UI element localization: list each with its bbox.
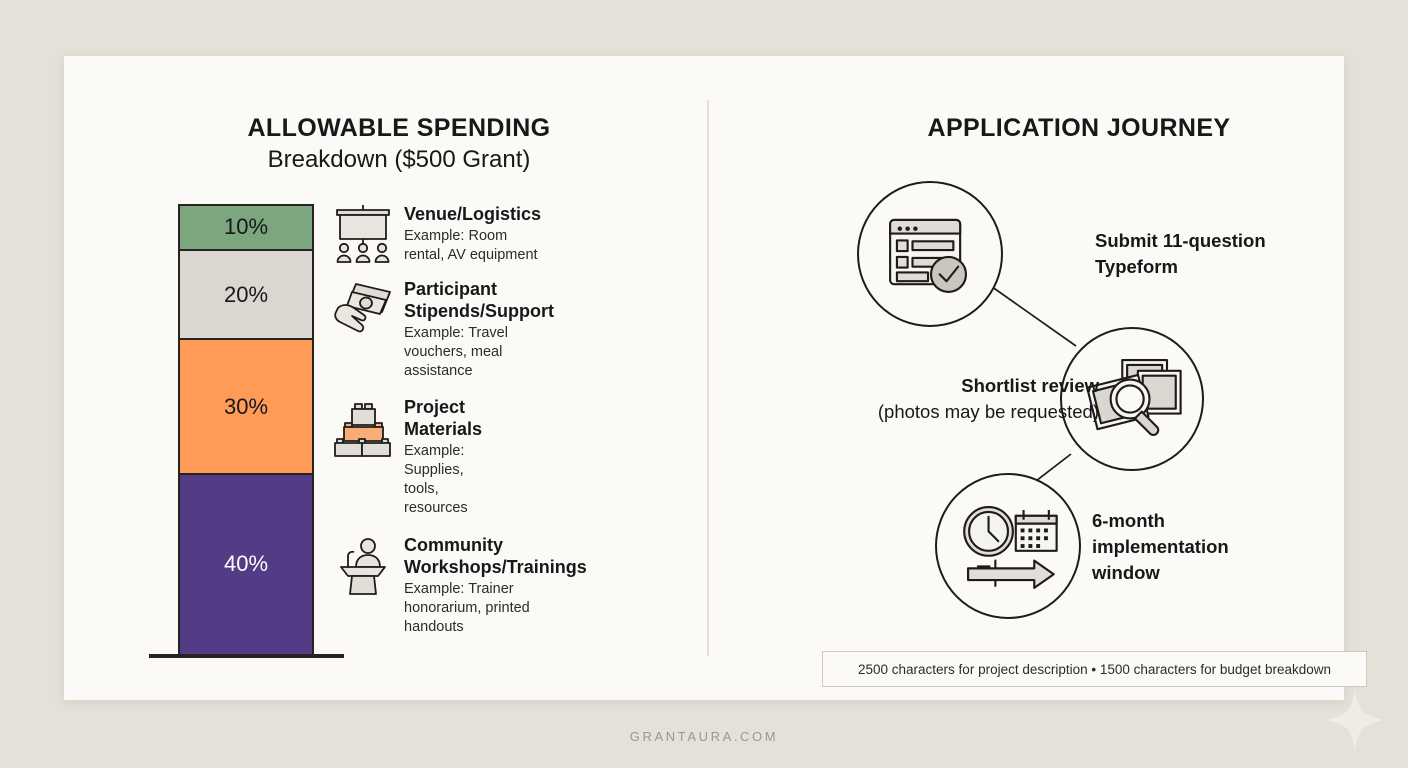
main-card: ALLOWABLE SPENDING Breakdown ($500 Grant… bbox=[64, 56, 1344, 700]
legend-label: Community Workshops/Trainings bbox=[404, 534, 587, 578]
legend-example: Example: Room rental, AV equipment bbox=[404, 227, 541, 265]
journey-label-sub: (photos may be requested) bbox=[827, 399, 1099, 425]
bar-segment-venue: 10% bbox=[180, 206, 312, 251]
bar-segment-materials: 30% bbox=[180, 340, 312, 474]
legend-text-materials: Project Materials Example: Supplies, too… bbox=[404, 396, 482, 518]
building-blocks-icon bbox=[332, 396, 394, 458]
bar-segment-value: 30% bbox=[224, 394, 268, 420]
journey-label-sub: Typeform bbox=[1095, 254, 1325, 280]
journey-label-submit-typeform: Submit 11-question Typeform bbox=[1095, 228, 1325, 280]
left-panel-title-line2: Breakdown ($500 Grant) bbox=[164, 144, 634, 176]
bar-segment-value: 10% bbox=[224, 214, 268, 240]
projector-screen-audience-icon bbox=[332, 203, 394, 265]
journey-label-sub: implementation window bbox=[1092, 534, 1222, 586]
journey-label-implementation-window: 6-month implementation window bbox=[1092, 508, 1312, 586]
bar-segment-value: 20% bbox=[224, 282, 268, 308]
legend-example: Example: Supplies, tools, resources bbox=[404, 442, 482, 518]
legend-example: Example: Trainer honorarium, printed han… bbox=[404, 580, 587, 637]
journey-label-shortlist-review: Shortlist review (photos may be requeste… bbox=[827, 373, 1099, 425]
legend-label: Venue/Logistics bbox=[404, 203, 541, 225]
journey-label-main: 6-month bbox=[1092, 508, 1312, 534]
form-checkmark-icon bbox=[859, 183, 1001, 325]
journey-circle-submit-typeform bbox=[857, 181, 1003, 327]
clock-calendar-arrow-icon bbox=[937, 475, 1079, 617]
character-limit-note: 2500 characters for project description … bbox=[822, 651, 1367, 687]
left-panel-title: ALLOWABLE SPENDING Breakdown ($500 Grant… bbox=[164, 113, 634, 176]
journey-label-main: Submit 11-question bbox=[1095, 228, 1325, 254]
infographic-canvas: ALLOWABLE SPENDING Breakdown ($500 Grant… bbox=[0, 0, 1408, 768]
speaker-podium-icon bbox=[332, 534, 394, 596]
legend-label: Project Materials bbox=[404, 396, 482, 440]
stacked-bar-chart: 10% 20% 30% 40% bbox=[178, 204, 314, 656]
legend-label: Participant Stipends/Support bbox=[404, 278, 554, 322]
left-panel-title-line1: ALLOWABLE SPENDING bbox=[164, 113, 634, 144]
bar-segment-value: 40% bbox=[224, 551, 268, 577]
legend-text-venue: Venue/Logistics Example: Room rental, AV… bbox=[404, 203, 541, 265]
application-journey-diagram: Submit 11-question Typeform Shortlist re… bbox=[707, 56, 1344, 700]
journey-circle-implementation-window bbox=[935, 473, 1081, 619]
character-limit-note-text: 2500 characters for project description … bbox=[858, 662, 1331, 677]
legend-example: Example: Travel vouchers, meal assistanc… bbox=[404, 324, 554, 381]
legend-text-stipends: Participant Stipends/Support Example: Tr… bbox=[404, 278, 554, 381]
legend-text-workshops: Community Workshops/Trainings Example: T… bbox=[404, 534, 587, 637]
bar-segment-stipends: 20% bbox=[180, 251, 312, 341]
footer: GRANTAURA.COM bbox=[0, 728, 1408, 746]
hand-holding-cash-icon bbox=[332, 278, 394, 340]
bar-segment-workshops: 40% bbox=[180, 475, 312, 654]
bar-baseline bbox=[149, 654, 344, 658]
journey-label-main: Shortlist review bbox=[827, 373, 1099, 399]
footer-site-label: GRANTAURA.COM bbox=[630, 729, 778, 744]
